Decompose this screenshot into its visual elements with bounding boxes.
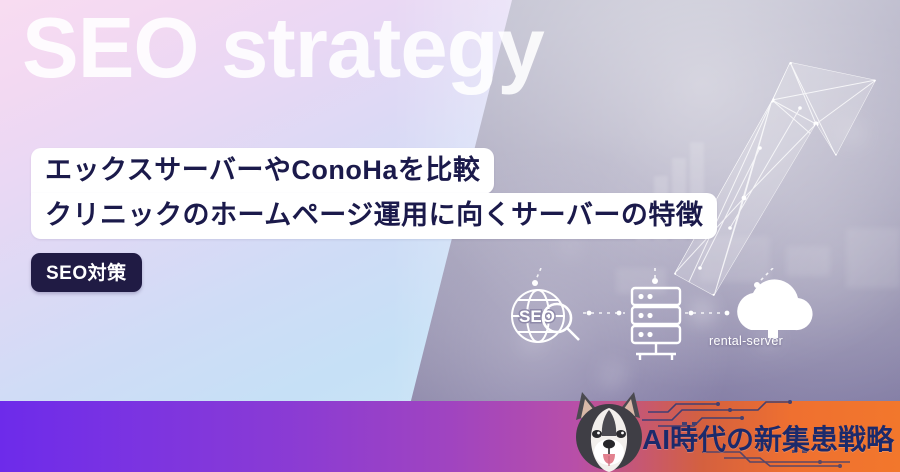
cloud-upload-icon: [737, 279, 812, 338]
headline-block: エックスサーバーやConoHaを比較 クリニックのホームページ運用に向くサーバー…: [31, 148, 717, 239]
bokeh-light: [598, 360, 628, 390]
headline-line-2: クリニックのホームページ運用に向くサーバーの特徴: [31, 193, 717, 239]
category-tag-badge: SEO対策: [31, 253, 142, 292]
husky-mascot-avatar: [566, 390, 652, 472]
brand-logo: AI時代の新集患戦略: [550, 390, 900, 472]
server-flow-icons: SEO: [505, 268, 845, 363]
eyebrow-title: SEO strategy: [22, 4, 544, 93]
seo-strategy-banner: SEO strategy エックスサーバーやConoHaを比較 クリニックのホー…: [0, 0, 900, 472]
headline-line-1: エックスサーバーやConoHaを比較: [31, 148, 494, 194]
rental-server-label: rental-server: [709, 334, 783, 348]
server-rack-icon: [632, 288, 680, 360]
bokeh-light: [560, 236, 580, 256]
svg-text:SEO: SEO: [519, 307, 555, 326]
seo-globe-search-icon: SEO: [512, 290, 579, 342]
brand-logo-text: AI時代の新集患戦略: [642, 418, 894, 458]
